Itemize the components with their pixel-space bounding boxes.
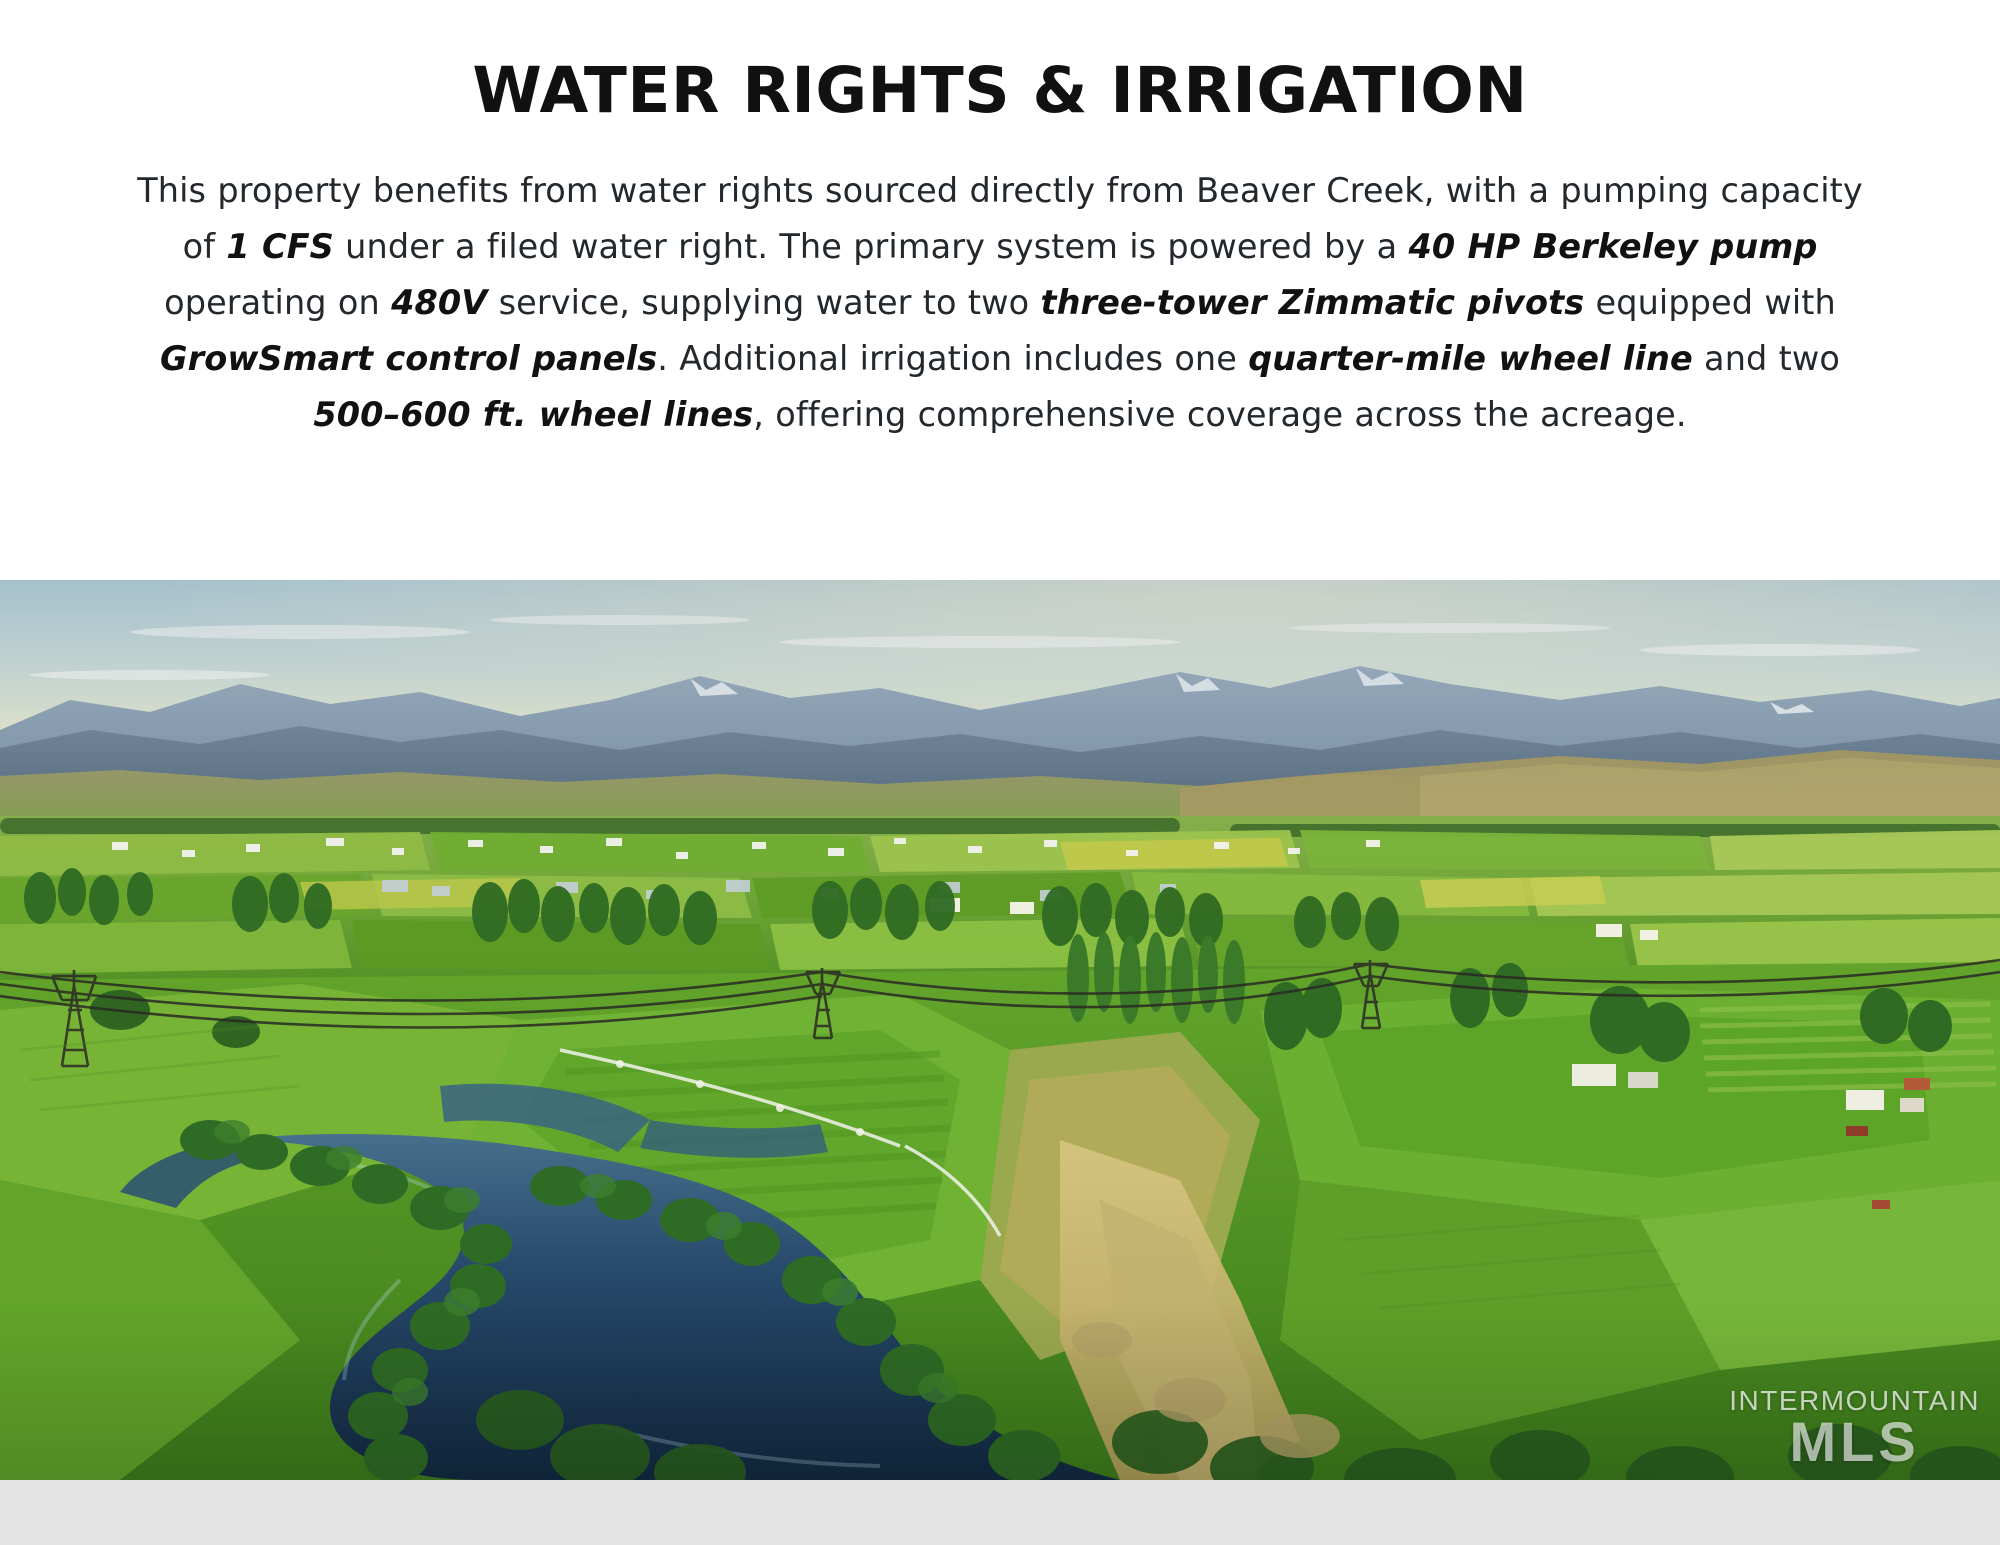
landscape-illustration (0, 580, 2000, 1480)
body-text-14: , offering comprehensive coverage across… (753, 395, 1686, 434)
body-text-8: equipped with (1584, 283, 1836, 322)
body-paragraph: This property benefits from water rights… (130, 163, 1870, 443)
body-emphasis-7: three-tower Zimmatic pivots (1040, 283, 1584, 322)
slide-page: WATER RIGHTS & IRRIGATION This property … (0, 0, 2000, 1545)
body-text-12: and two (1693, 339, 1840, 378)
body-emphasis-11: quarter-mile wheel line (1248, 339, 1693, 378)
body-emphasis-3: 40 HP Berkeley pump (1408, 227, 1817, 266)
body-text-4: operating on (164, 283, 391, 322)
body-emphasis-1: 1 CFS (226, 227, 334, 266)
page-title: WATER RIGHTS & IRRIGATION (0, 58, 2000, 125)
body-emphasis-5: 480V (391, 283, 487, 322)
body-text-10: . Additional irrigation includes one (657, 339, 1248, 378)
body-emphasis-13: 500–600 ft. wheel lines (313, 395, 753, 434)
aerial-landscape-photo: INTERMOUNTAIN MLS (0, 580, 2000, 1480)
text-section: WATER RIGHTS & IRRIGATION This property … (0, 0, 2000, 580)
footer-band (0, 1480, 2000, 1545)
body-emphasis-9: GrowSmart control panels (160, 339, 657, 378)
body-text-2: under a filed water right. The primary s… (334, 227, 1409, 266)
body-text-6: service, supplying water to two (487, 283, 1040, 322)
